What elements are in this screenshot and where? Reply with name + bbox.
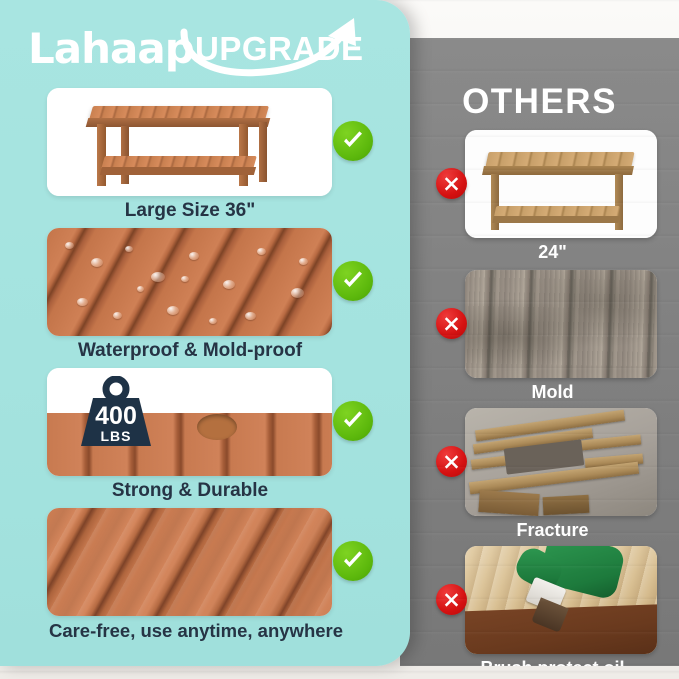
feature-image-waterproof (47, 228, 332, 336)
feature-image-strong-durable: 400 LBS (47, 368, 332, 476)
check-circle-icon (333, 541, 373, 581)
feature-image-large-bench (47, 88, 332, 196)
weight-icon (73, 376, 159, 450)
other-label-2: Fracture (440, 520, 665, 541)
other-image-mold (465, 270, 657, 378)
cross-circle-icon (436, 584, 467, 615)
feature-label-3: Care-free, use anytime, anywhere (0, 620, 396, 642)
other-label-1: Mold (440, 382, 665, 403)
other-image-fracture (465, 408, 657, 516)
upgrade-panel: Lahaap UPGRADE Large Size 36" (0, 0, 410, 666)
feature-label-1: Waterproof & Mold-proof (0, 340, 380, 362)
others-title: OTHERS (400, 82, 679, 122)
other-label-0: 24" (440, 242, 665, 263)
other-label-3: Brush protect oil (440, 658, 665, 666)
check-circle-icon (333, 261, 373, 301)
cross-circle-icon (436, 446, 467, 477)
feature-label-0: Large Size 36" (0, 200, 380, 222)
other-image-small-bench (465, 130, 657, 238)
check-circle-icon (333, 121, 373, 161)
brand-upgrade-label: UPGRADE (195, 30, 364, 68)
feature-image-care-free (47, 508, 332, 616)
brand-header: Lahaap UPGRADE (0, 10, 410, 82)
check-circle-icon (333, 401, 373, 441)
feature-label-2: Strong & Durable (0, 480, 380, 502)
cross-circle-icon (436, 308, 467, 339)
cross-circle-icon (436, 168, 467, 199)
brand-logo: Lahaap (28, 24, 194, 73)
other-image-brush-oil (465, 546, 657, 654)
others-panel: OTHERS 24" Mold (400, 38, 679, 666)
